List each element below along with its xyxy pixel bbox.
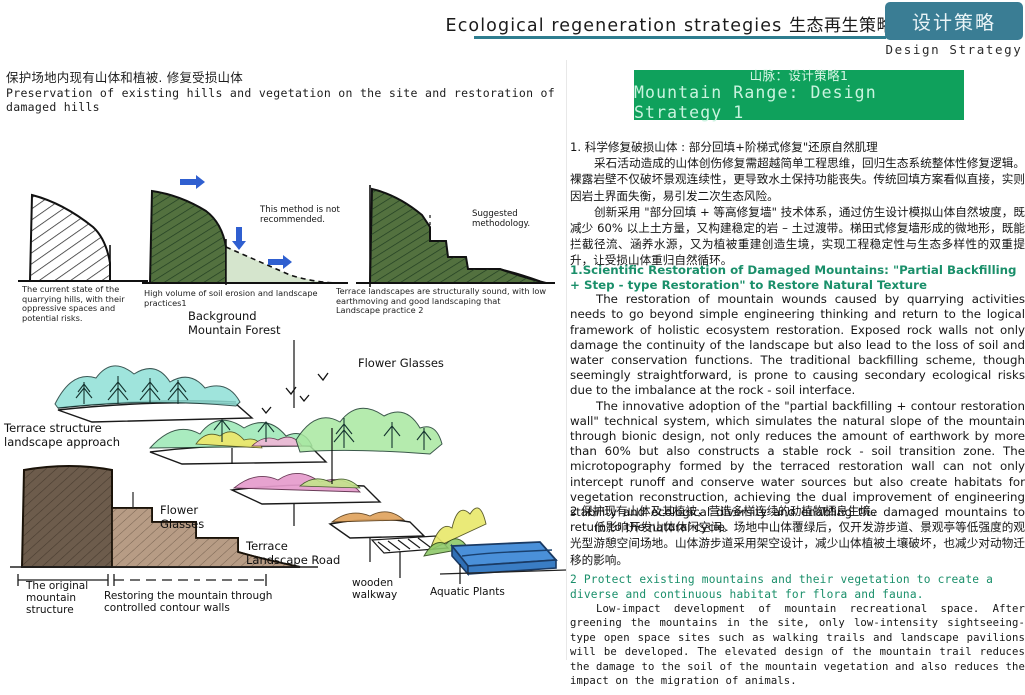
section1-cn-para1: 采石活动造成的山体创伤修复需超越简单工程思维，回归生态系统整体性修复逻辑。裸露岩… — [570, 155, 1025, 204]
banner-title-cn: 山脉：设计策略1 — [750, 68, 849, 83]
slide-page: Ecological regeneration strategies 生态再生策… — [0, 0, 1025, 695]
left-column: 保护场地内现有山体和植被. 修复受损山体 Preservation of exi… — [0, 62, 566, 695]
section2-en-heading: 2 Protect existing mountains and their v… — [570, 572, 1025, 602]
label-background-mountain-forest: Background Mountain Forest — [188, 310, 281, 337]
label-contour-walls: Restoring the mountain through controlle… — [104, 590, 272, 614]
right-column: 山脉：设计策略1 Mountain Range: Design Strategy… — [568, 0, 1025, 695]
label-flower-glasses-left: Flower Glasses — [160, 504, 204, 531]
section1-en-block: 1.Scientific Restoration of Damaged Moun… — [570, 263, 1025, 535]
diagram-soil-erosion: This method is not recommended. High vol… — [140, 165, 355, 305]
column-divider — [566, 60, 567, 660]
section2-en-block: 2 Protect existing mountains and their v… — [570, 572, 1025, 688]
section2-cn-block: 2 保护现有山体及其植被，营造多样连续的动植物栖息生境。 低影响开发山体休闲空间… — [570, 503, 1025, 568]
lead-text-en: Preservation of existing hills and veget… — [6, 86, 566, 114]
diagram-terrace-note: Suggested methodology. — [472, 209, 568, 229]
mountain-range-strategy-banner: 山脉：设计策略1 Mountain Range: Design Strategy… — [634, 70, 964, 120]
diagram-terrace-landscape: Suggested methodology. Terrace landscape… — [350, 165, 560, 305]
label-wooden-walkway: wooden walkway — [352, 577, 397, 601]
section2-cn-para: 低影响开发山体休闲空间。场地中山体覆绿后，仅开发游步道、景观亭等低强度的观光型游… — [570, 519, 1025, 568]
label-terrace-structure: Terrace structure landscape approach — [4, 422, 120, 449]
label-flower-glasses-top: Flower Glasses — [358, 357, 444, 371]
section1-cn-heading: 1. 科学修复破损山体 : 部分回填+阶梯式修复"还原自然肌理 — [570, 139, 1025, 155]
section-illustration: Background Mountain Forest Terrace struc… — [0, 312, 566, 632]
diagram-soil-erosion-caption: High volume of soil erosion and landscap… — [144, 289, 354, 308]
section1-en-heading: 1.Scientific Restoration of Damaged Moun… — [570, 263, 1025, 292]
section2-cn-heading: 2 保护现有山体及其植被，营造多样连续的动植物栖息生境。 — [570, 503, 1025, 519]
label-aquatic-plants: Aquatic Plants — [430, 586, 505, 598]
section1-cn-para2: 创新采用 "部分回填 + 等高修复墙" 技术体系，通过仿生设计模拟山体自然坡度，… — [570, 204, 1025, 269]
banner-title-en: Mountain Range: Design Strategy 1 — [634, 83, 964, 123]
section1-en-para1: The restoration of mountain wounds cause… — [570, 292, 1025, 398]
label-original-mountain-structure: The original mountain structure — [26, 580, 88, 616]
section1-cn-block: 1. 科学修复破损山体 : 部分回填+阶梯式修复"还原自然肌理 采石活动造成的山… — [570, 139, 1025, 269]
section2-en-para: Low-impact development of mountain recre… — [570, 602, 1025, 688]
diagram-terrace-svg — [350, 165, 560, 305]
diagram-soil-erosion-svg — [140, 165, 355, 305]
bird-icon — [262, 373, 328, 413]
lead-text-cn: 保护场地内现有山体和植被. 修复受损山体 — [6, 67, 243, 86]
label-terrace-landscape-road: Terrace Landscape Road — [246, 540, 340, 567]
